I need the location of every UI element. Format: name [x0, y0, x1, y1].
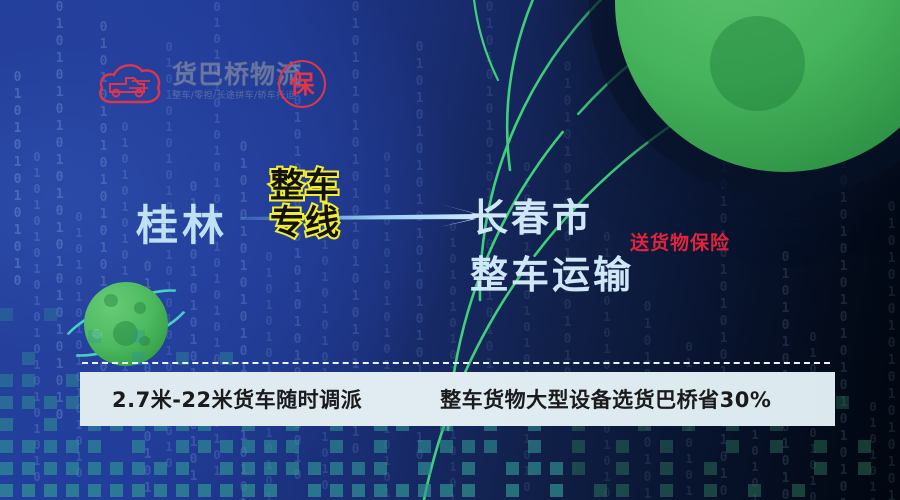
mosaic-square [22, 352, 35, 365]
mosaic-square [616, 462, 629, 475]
mosaic-square [220, 440, 233, 453]
mosaic-square [660, 484, 673, 497]
mosaic-square [0, 462, 13, 475]
mosaic-square [506, 462, 519, 475]
mosaic-square [110, 484, 123, 497]
mosaic-square [154, 462, 167, 475]
mosaic-square [66, 484, 79, 497]
mosaic-square [66, 440, 79, 453]
mosaic-square [836, 396, 849, 409]
mosaic-square [0, 396, 13, 409]
mosaic-square [308, 462, 321, 475]
mosaic-square [462, 440, 475, 453]
mosaic-square [440, 484, 453, 497]
mosaic-square [88, 462, 101, 475]
mosaic-square [132, 440, 145, 453]
info-banner: 2.7米-22米货车随时调派 整车货物大型设备选货巴桥省30% [80, 372, 835, 426]
mosaic-square [66, 462, 79, 475]
binary-column: 0101010101010101010101010 [52, 0, 67, 300]
mosaic-square [594, 484, 607, 497]
cloud-truck-icon [96, 58, 164, 106]
mosaic-square [374, 462, 387, 475]
mosaic-square [616, 484, 629, 497]
mosaic-square [418, 462, 431, 475]
service-badge: 整车 专线 [255, 168, 355, 241]
mosaic-square [22, 462, 35, 475]
mosaic-square [704, 484, 717, 497]
mosaic-square [308, 484, 321, 497]
dashed-divider [82, 362, 830, 364]
mosaic-square [0, 418, 13, 431]
mosaic-square [66, 374, 79, 387]
ringed-planet-icon [84, 282, 168, 366]
green-planet-icon [615, 0, 900, 172]
binary-column: 010101010 [866, 400, 880, 500]
mosaic-square [550, 484, 563, 497]
binary-column: 010101010101010101010101010101 [210, 0, 224, 340]
destination-service: 整车运输 [470, 247, 634, 304]
mosaic-square [286, 440, 299, 453]
mosaic-square [110, 462, 123, 475]
binary-column: 010101010101010101010 [30, 150, 44, 380]
mosaic-square [132, 484, 145, 497]
mosaic-square [220, 484, 233, 497]
mosaic-square [550, 462, 563, 475]
binary-column: 0101010101010101010 [778, 250, 793, 480]
mosaic-square [726, 440, 739, 453]
mosaic-square [22, 374, 35, 387]
mosaic-square [88, 440, 101, 453]
brand-logo: 货巴桥物流 整车/零担/长途拼车/轿车托运 [96, 58, 302, 106]
mosaic-square [484, 440, 497, 453]
mosaic-square [814, 462, 827, 475]
binary-column: 0101010101010101010101 [884, 200, 899, 460]
binary-column: 0101010101010101010101010 [836, 140, 851, 440]
destination-city: 长春市 [470, 190, 634, 247]
mosaic-square [528, 440, 541, 453]
mosaic-square [0, 374, 13, 387]
mosaic-square [242, 440, 255, 453]
mosaic-square [242, 484, 255, 497]
mosaic-square [792, 484, 805, 497]
mosaic-square [440, 440, 453, 453]
origin-city: 桂林 [136, 192, 228, 253]
mosaic-square [352, 484, 365, 497]
mosaic-square [264, 484, 277, 497]
mosaic-square [22, 396, 35, 409]
insurance-note: 送货物保险 [630, 228, 730, 255]
banner-right-text: 整车货物大型设备选货巴桥省30% [440, 384, 771, 414]
mosaic-square [66, 396, 79, 409]
mosaic-square [418, 484, 431, 497]
mosaic-square [330, 462, 343, 475]
mosaic-square [330, 440, 343, 453]
mosaic-square [374, 484, 387, 497]
service-badge-line1: 整车 [255, 168, 355, 205]
poster-canvas: 0101010101010010101010101010101010010101… [0, 0, 900, 500]
mosaic-square [374, 440, 387, 453]
mosaic-square [0, 308, 13, 321]
mosaic-square [858, 440, 871, 453]
banner-left-text: 2.7米-22米货车随时调派 [112, 384, 362, 414]
binary-column: 0101010101010 [10, 70, 25, 220]
binary-column: 0101010101010101010101 [236, 140, 251, 400]
binary-column: 010101010101010101010101010 [348, 0, 363, 330]
mosaic-square [44, 440, 57, 453]
mosaic-square [44, 484, 57, 497]
binary-column: 0101010101010101010101010 [412, 40, 427, 340]
destination-block: 长春市 整车运输 [470, 190, 634, 304]
mosaic-square [704, 462, 717, 475]
mosaic-square [0, 440, 13, 453]
service-badge-line2: 专线 [255, 205, 355, 242]
mosaic-square [242, 462, 255, 475]
mosaic-square [22, 484, 35, 497]
mosaic-square [814, 440, 827, 453]
mosaic-square [44, 462, 57, 475]
mosaic-square [176, 462, 189, 475]
mosaic-square [154, 484, 167, 497]
mosaic-square [132, 462, 145, 475]
mosaic-square [264, 440, 277, 453]
insurance-stamp-icon: 保 [278, 60, 326, 108]
mosaic-square [616, 440, 629, 453]
mosaic-square [286, 462, 299, 475]
mosaic-square [44, 396, 57, 409]
mosaic-square [0, 484, 13, 497]
mosaic-square [198, 484, 211, 497]
mosaic-square [198, 440, 211, 453]
mosaic-square [264, 462, 277, 475]
mosaic-square [176, 440, 189, 453]
mosaic-square [176, 484, 189, 497]
mosaic-square [330, 484, 343, 497]
mosaic-square [748, 484, 761, 497]
mosaic-square [88, 484, 101, 497]
mosaic-square [528, 462, 541, 475]
mosaic-square [572, 462, 585, 475]
mosaic-square [858, 462, 871, 475]
mosaic-square [418, 440, 431, 453]
mosaic-square [770, 440, 783, 453]
mosaic-square [220, 462, 233, 475]
mosaic-square [462, 462, 475, 475]
mosaic-square [462, 484, 475, 497]
mosaic-square [396, 484, 409, 497]
mosaic-square [44, 418, 57, 431]
mosaic-square [44, 308, 57, 321]
mosaic-square [22, 440, 35, 453]
mosaic-square [506, 484, 519, 497]
mosaic-square [660, 462, 673, 475]
mosaic-square [660, 440, 673, 453]
mosaic-square [572, 440, 585, 453]
mosaic-square [352, 462, 365, 475]
